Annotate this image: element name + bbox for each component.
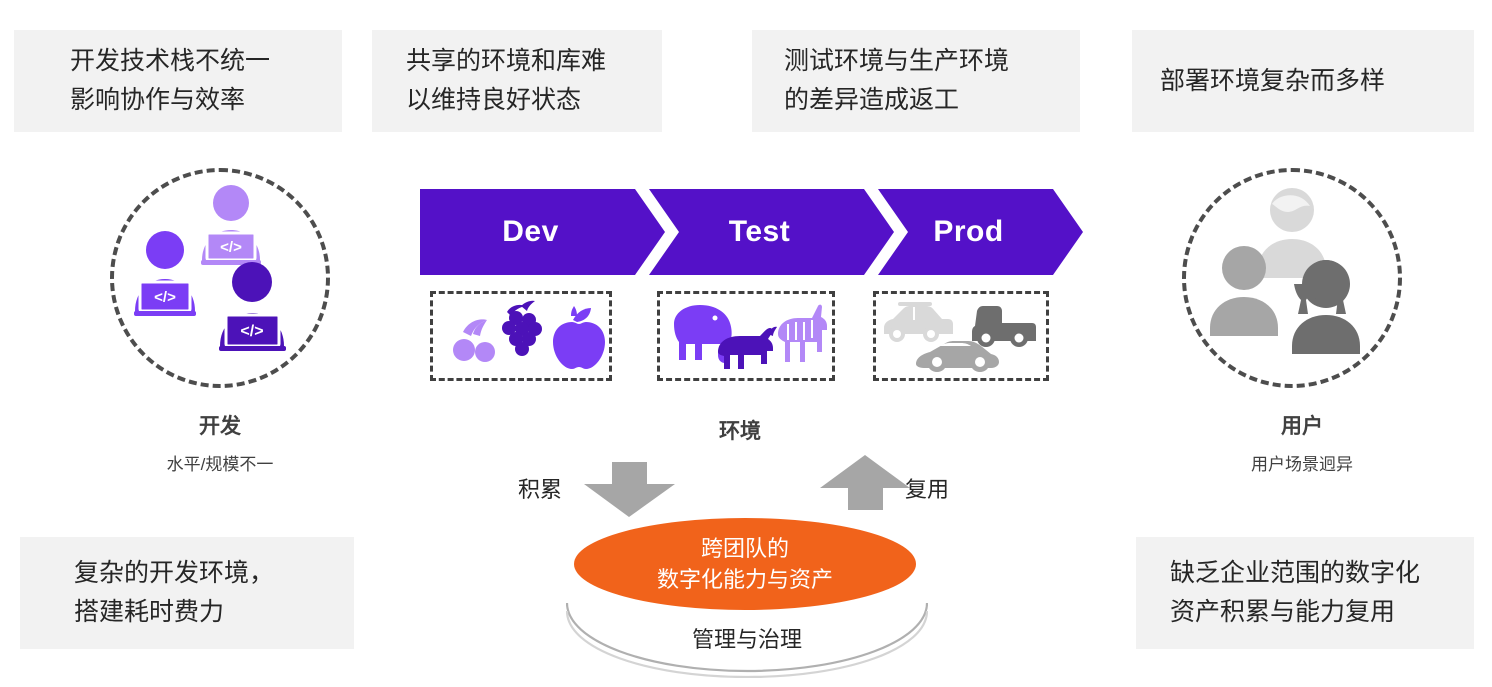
pain-box-test-prod-gap: 测试环境与生产环境 的差异造成返工	[752, 30, 1080, 132]
pain-line: 复杂的开发环境，	[74, 554, 354, 593]
apple-icon	[553, 306, 605, 369]
animal-icon-group	[660, 294, 832, 378]
pain-box-lack-enterprise-assets: 缺乏企业范围的数字化 资产积累与能力复用	[1136, 537, 1474, 649]
section-title-user: 用户	[1192, 410, 1412, 440]
svg-text:</>: </>	[220, 239, 242, 256]
platform-line: 数字化能力与资产	[657, 564, 833, 595]
vehicle-icon-group	[876, 294, 1046, 378]
pain-line: 搭建耗时费力	[74, 593, 354, 632]
pipeline-stage-dev[interactable]: Dev	[420, 189, 665, 275]
platform-base-label: 管理与治理	[566, 622, 928, 654]
pipeline-stage-label: Dev	[502, 215, 583, 249]
flow-label-accumulate: 积累	[518, 472, 562, 504]
pipeline-stage-test[interactable]: Test	[649, 189, 894, 275]
pain-line: 影响协作与效率	[70, 81, 342, 120]
developer-light-icon: </>	[201, 185, 261, 265]
developer-mid-icon: </>	[134, 231, 196, 316]
pickup-truck-icon	[972, 306, 1036, 347]
artefact-box-test	[657, 291, 835, 381]
pipeline-stage-prod[interactable]: Prod	[878, 189, 1083, 275]
flow-label-reuse: 复用	[905, 472, 949, 504]
section-title-dev: 开发	[110, 410, 330, 440]
pain-line: 测试环境与生产环境	[784, 42, 1080, 81]
pipeline-stage-label: Prod	[933, 215, 1027, 249]
pipeline-stage-label: Test	[729, 215, 814, 249]
platform-ellipse: 跨团队的 数字化能力与资产	[574, 518, 916, 610]
zebra-icon	[778, 305, 827, 362]
developer-dark-icon: </>	[219, 262, 286, 351]
grapes-icon	[502, 301, 542, 356]
pain-line: 开发技术栈不统一	[70, 42, 342, 81]
pain-line: 缺乏企业范围的数字化	[1170, 554, 1474, 593]
pain-box-shared-env: 共享的环境和库难 以维持良好状态	[372, 30, 662, 132]
fruit-icon-group	[433, 294, 609, 378]
pain-box-complex-dev-env: 复杂的开发环境， 搭建耗时费力	[20, 537, 354, 649]
diagram-canvas: 开发技术栈不统一 影响协作与效率 共享的环境和库难 以维持良好状态 测试环境与生…	[0, 0, 1492, 687]
platform-cylinder: 跨团队的 数字化能力与资产 管理与治理	[566, 518, 928, 678]
svg-text:</>: </>	[240, 323, 263, 340]
pain-line: 共享的环境和库难	[406, 42, 662, 81]
pain-line: 资产积累与能力复用	[1170, 593, 1474, 632]
arrow-down-icon	[582, 462, 677, 517]
cherries-icon	[453, 319, 495, 362]
pain-line: 的差异造成返工	[784, 81, 1080, 120]
artefact-box-prod	[873, 291, 1049, 381]
pain-box-deploy-env: 部署环境复杂而多样	[1132, 30, 1474, 132]
pain-line: 部署环境复杂而多样	[1160, 62, 1474, 101]
pain-box-dev-stack: 开发技术栈不统一 影响协作与效率	[14, 30, 342, 132]
pain-line: 以维持良好状态	[406, 81, 662, 120]
svg-text:</>: </>	[154, 289, 176, 306]
section-subtitle-dev: 水平/规模不一	[110, 450, 330, 475]
section-subtitle-user: 用户场景迥异	[1192, 450, 1412, 475]
suv-icon	[884, 302, 953, 342]
arrow-up-icon	[818, 455, 913, 510]
section-title-env: 环境	[630, 415, 850, 445]
user-group-icon	[1192, 178, 1392, 378]
platform-line: 跨团队的	[701, 533, 789, 564]
developer-group-icon: </> </> </>	[120, 178, 320, 378]
artefact-box-dev	[430, 291, 612, 381]
